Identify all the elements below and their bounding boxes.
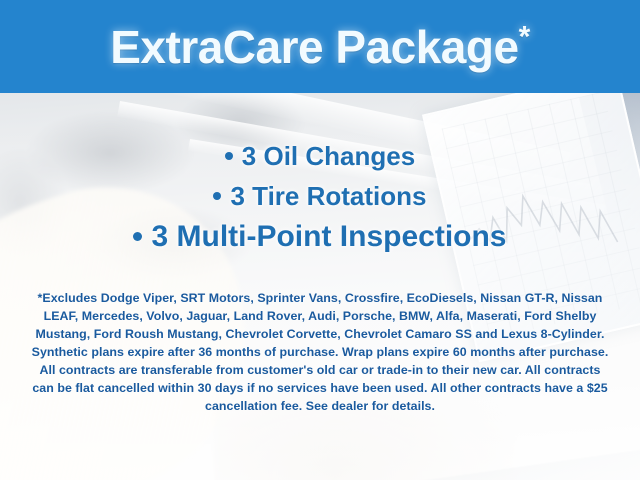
bullet-dot-icon bbox=[133, 232, 142, 241]
page-title-asterisk: * bbox=[519, 20, 530, 53]
benefit-item: 3 Oil Changes bbox=[0, 141, 640, 172]
extracare-package-promo: ExtraCare Package* 3 Oil Changes 3 Tire … bbox=[0, 0, 640, 480]
bullet-dot-icon bbox=[225, 152, 233, 160]
promo-content: 3 Oil Changes 3 Tire Rotations 3 Multi-P… bbox=[0, 93, 640, 480]
disclaimer-text: *Excludes Dodge Viper, SRT Motors, Sprin… bbox=[30, 289, 610, 415]
benefits-list: 3 Oil Changes 3 Tire Rotations 3 Multi-P… bbox=[0, 141, 640, 255]
benefit-item-label: 3 Tire Rotations bbox=[230, 181, 426, 211]
benefit-item: 3 Tire Rotations bbox=[0, 181, 640, 212]
header-banner: ExtraCare Package* bbox=[0, 0, 640, 93]
benefit-item: 3 Multi-Point Inspections bbox=[0, 219, 640, 254]
bullet-dot-icon bbox=[213, 192, 221, 200]
page-title: ExtraCare Package* bbox=[110, 24, 530, 70]
benefit-item-label: 3 Multi-Point Inspections bbox=[151, 220, 506, 253]
page-title-text: ExtraCare Package bbox=[110, 21, 518, 73]
benefit-item-label: 3 Oil Changes bbox=[242, 141, 415, 171]
